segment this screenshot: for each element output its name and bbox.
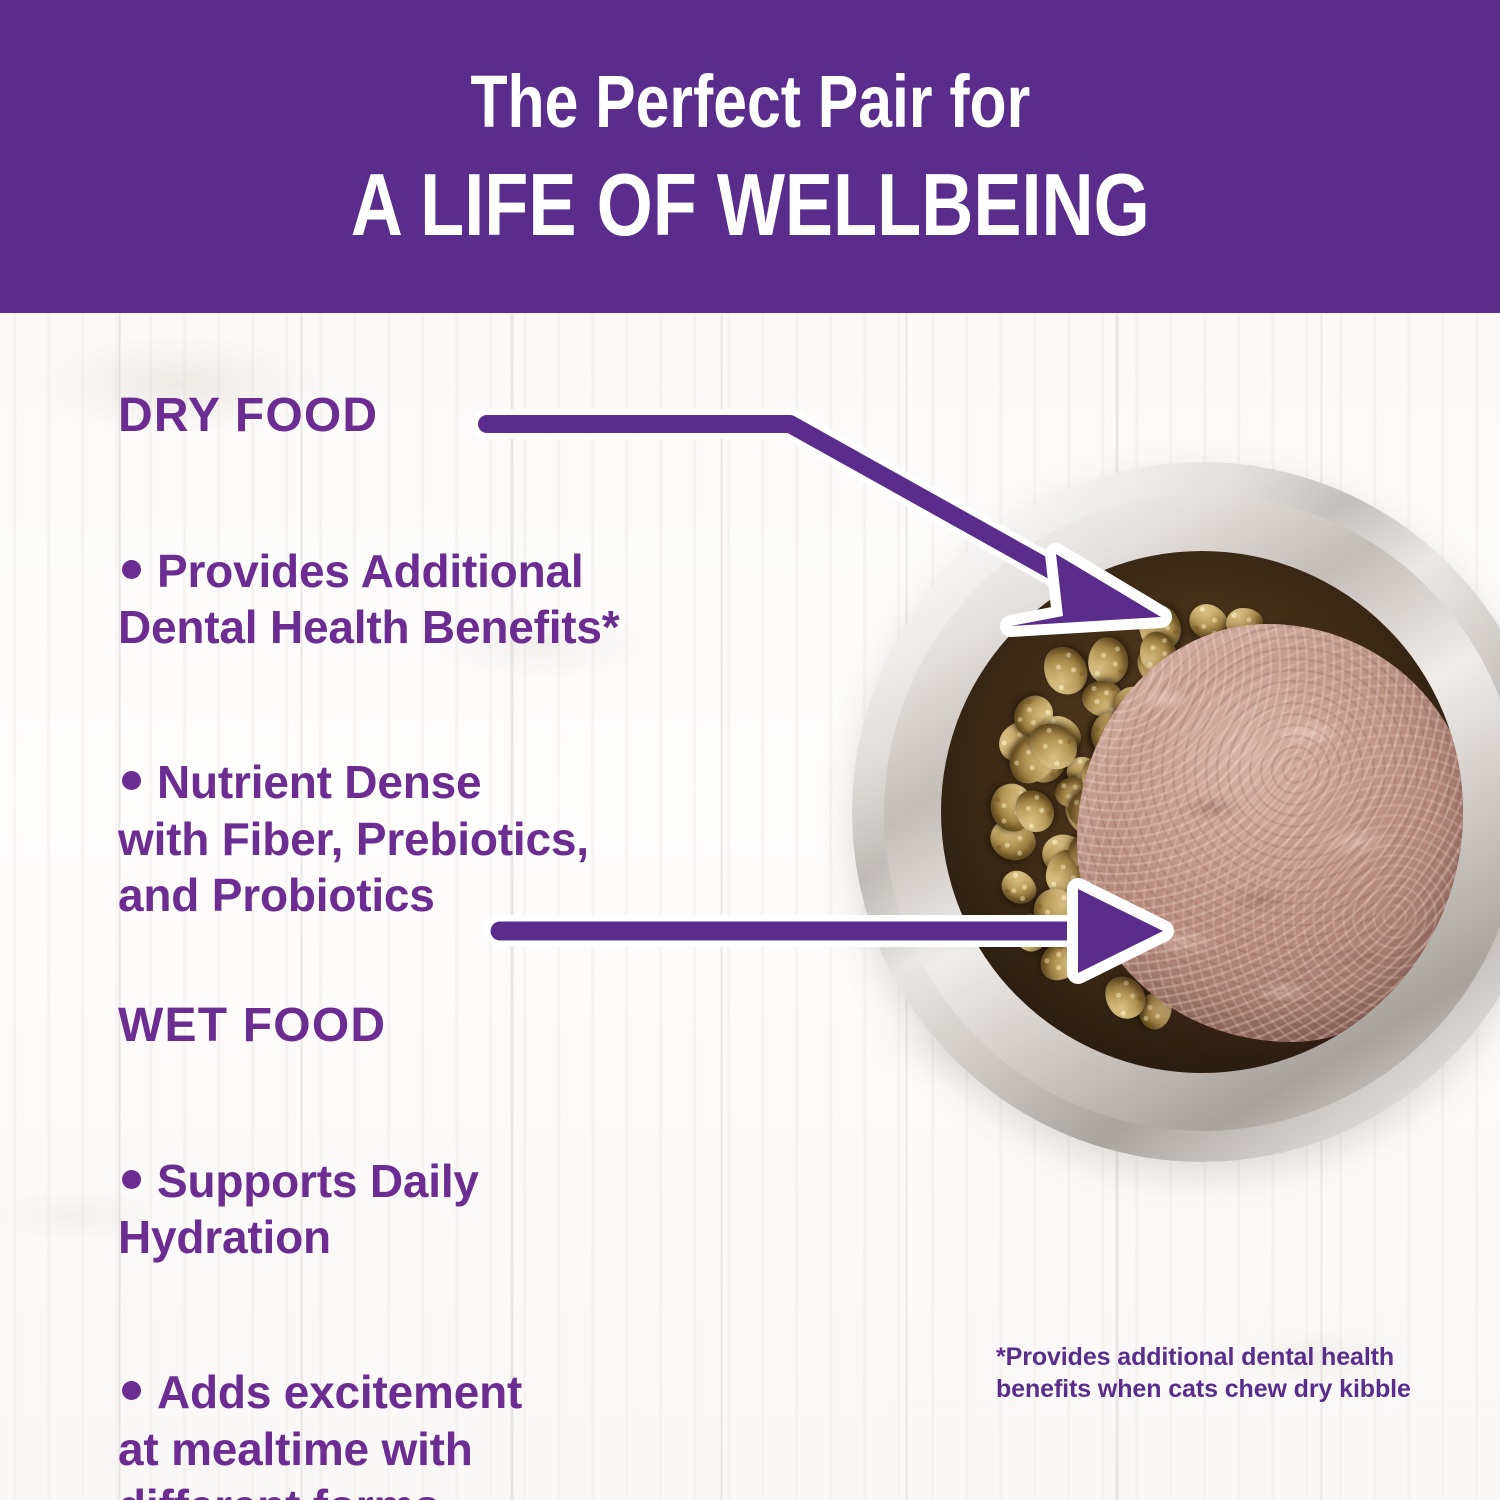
wet-food-bullet-2-text: Adds excitement at mealtime with differe… [118, 1366, 522, 1500]
food-bowl-photo [852, 462, 1500, 1318]
dry-food-bullet-2: Nutrient Dense with Fiber, Prebiotics, a… [118, 698, 798, 924]
wet-food-heading: WET FOOD [118, 1002, 798, 1050]
bowl-inner-rim [884, 494, 1500, 1131]
wet-food-section: WET FOOD Supports Daily Hydration Adds e… [118, 1002, 798, 1500]
dry-food-bullet-2-text: Nutrient Dense with Fiber, Prebiotics, a… [118, 756, 589, 921]
bowl-outer-rim [852, 462, 1500, 1162]
bowl-interior [941, 551, 1463, 1073]
header-banner: The Perfect Pair for A LIFE OF WELLBEING [0, 0, 1500, 313]
wet-food-bullet-1-text: Supports Daily Hydration [118, 1155, 479, 1264]
footnote-text: *Provides additional dental health benef… [996, 1342, 1466, 1405]
dry-food-heading: DRY FOOD [118, 392, 798, 440]
benefits-copy-column: DRY FOOD Provides Additional Dental Heal… [118, 392, 798, 1500]
wet-food-pate [1077, 624, 1464, 1042]
header-line-1: The Perfect Pair for [470, 65, 1030, 139]
bullet-dot-icon [122, 1170, 141, 1189]
bullet-dot-icon [122, 771, 141, 790]
dry-food-section: DRY FOOD Provides Additional Dental Heal… [118, 392, 798, 924]
dry-food-bullet-1-text: Provides Additional Dental Health Benefi… [118, 545, 620, 654]
header-line-2: A LIFE OF WELLBEING [350, 161, 1149, 249]
bullet-dot-icon [122, 1381, 141, 1400]
bullet-dot-icon [122, 560, 141, 579]
wet-food-bullet-1: Supports Daily Hydration [118, 1096, 798, 1266]
promo-infographic: The Perfect Pair for A LIFE OF WELLBEING… [0, 0, 1500, 1500]
dry-food-bullet-1: Provides Additional Dental Health Benefi… [118, 486, 798, 656]
wet-food-bullet-2: Adds excitement at mealtime with differe… [118, 1308, 798, 1500]
